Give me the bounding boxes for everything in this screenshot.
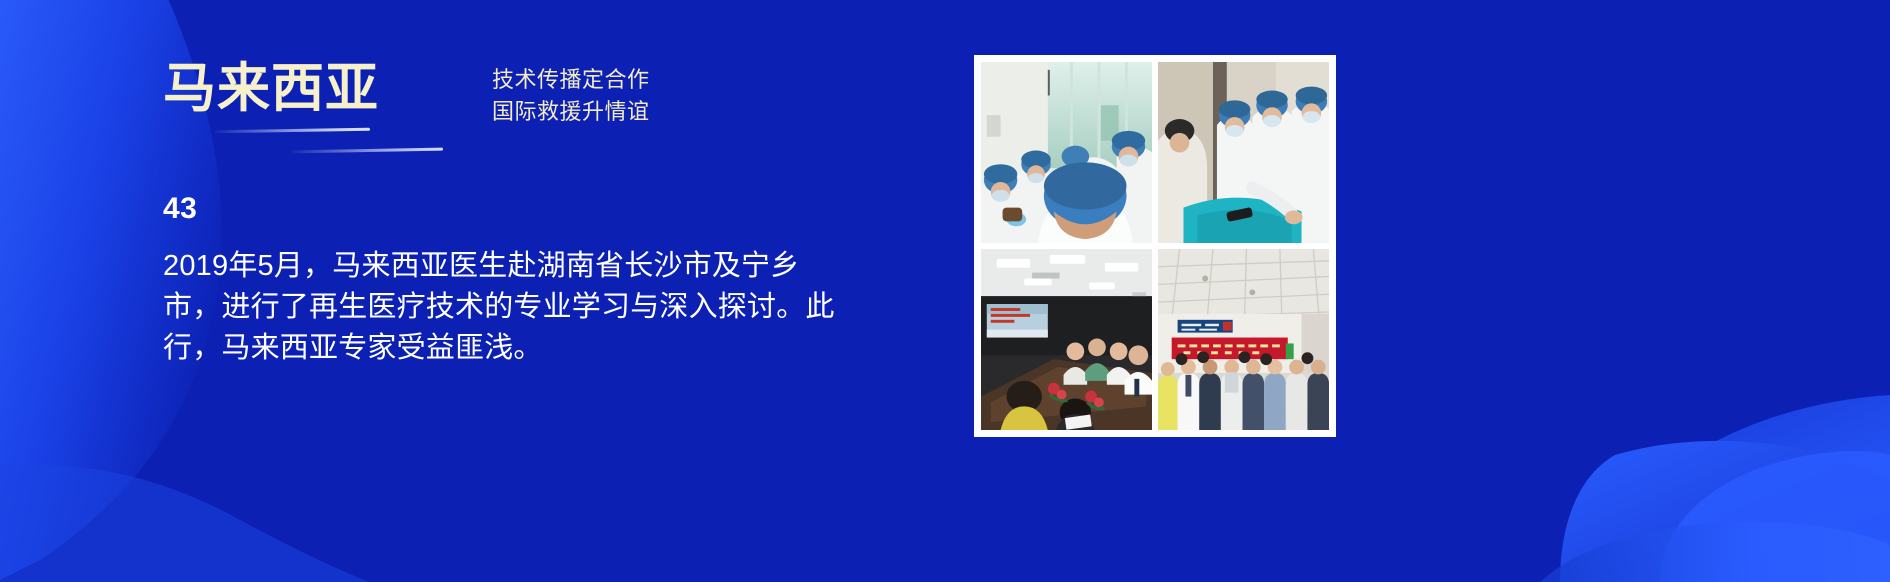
photo-conference-meeting (981, 249, 1152, 430)
page-title: 马来西亚 (163, 62, 493, 115)
subtitle-block: 技术传播定合作 国际救援升情谊 (492, 64, 650, 128)
right-sweep-upper (1670, 395, 1890, 505)
body-paragraph: 2019年5月，马来西亚医生赴湖南省长沙市及宁乡市，进行了再生医疗技术的专业学习… (163, 246, 835, 370)
right-lobe (1660, 451, 1890, 582)
photo-clinical-demonstration (981, 62, 1152, 243)
subtitle-line-2: 国际救援升情谊 (492, 96, 650, 128)
title-underline-secondary (291, 148, 443, 154)
subtitle-line-1: 技术传播定合作 (492, 64, 650, 96)
photo-group-portrait (1158, 249, 1329, 430)
title-underline-primary (215, 128, 370, 133)
title-block: 马来西亚 (163, 62, 493, 172)
photo-collage (974, 55, 1336, 437)
bottom-left-wave (0, 464, 420, 582)
slide-root: 马来西亚 技术传播定合作 国际救援升情谊 43 2019年5月，马来西亚医生赴湖… (0, 0, 1890, 582)
bottom-right-band (1540, 522, 1890, 582)
item-number: 43 (163, 192, 197, 226)
photo-bedside-training (1158, 62, 1329, 243)
right-wave-large (1560, 441, 1890, 582)
